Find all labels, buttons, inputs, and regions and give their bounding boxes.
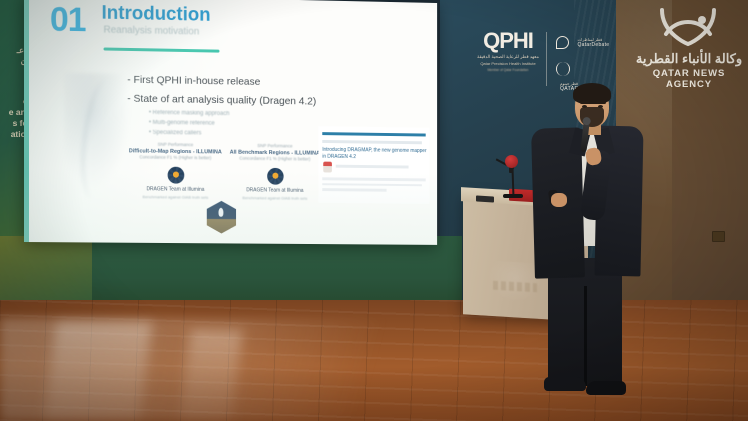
dragen-gear-icon [267,167,283,184]
slide-title: Introduction [102,4,211,25]
logo-divider [546,32,547,86]
article-top-bar [322,132,425,136]
column-1-caption: DRAGEN Team at Illumina [121,186,229,193]
presenter-eyebrow-right [596,101,606,104]
projection-screen: 01 Introduction Reanalysis motivation - … [24,0,437,245]
qna-arabic-name: وكالة الأنباء القطرية [634,51,744,67]
qphi-sub-name: Member of Qatar Foundation [474,68,542,72]
qatardebate-text: قطر لمناظرات QatarDebate [577,37,609,48]
qatardebate-english: QatarDebate [577,42,609,48]
article-body-line [322,183,421,187]
qna-circular-emblem [654,4,724,50]
article-body-placeholder [322,177,425,194]
stage-wall-lower-left [0,236,92,306]
column-2-note: Concordance F1 % (Higher is better) [221,155,328,163]
author-avatar [323,162,332,173]
slide-benchmark-column-2: SNP Performance All Benchmark Regions - … [221,143,328,202]
article-kicker-placeholder [322,140,422,144]
dragen-gear-icon [167,166,184,183]
column-2-caption: DRAGEN Team at Illumina [221,187,328,194]
qna-english-name: QATAR NEWS AGENCY [634,68,744,90]
qphi-wordmark: QPHI [474,30,542,52]
red-capped-desk-mic [505,155,518,168]
slide-section-number: 01 [50,3,86,38]
slide-article-card: Introducing DRAGMAP, the new genome mapp… [318,126,429,204]
presenter-shoe-right [586,381,626,395]
slide-subtitle: Reanalysis motivation [104,25,200,38]
slide-sub-bullet-2: Multi-genome reference [149,120,215,127]
presentation-slide: 01 Introduction Reanalysis motivation - … [24,0,437,245]
presenter-shoe-left [544,377,586,391]
column-1-footnote: Benchmarked against GIAB truth sets [121,193,229,200]
slide-sub-bullet-3: Specialized callers [149,130,201,137]
column-2-footnote: Benchmarked against GIAB truth sets [221,194,328,201]
slide-left-accent-bar [24,0,29,242]
dna-helix-icon [556,62,570,76]
article-body-line [322,188,386,191]
desk-mic-base [503,194,523,198]
slide-sub-bullet-1: Reference masking approach [149,110,229,117]
slide-benchmark-column-1: SNP Performance Difficult-to-Map Regions… [121,141,229,200]
precisionfda-award-badge [207,201,236,234]
slide-title-rule [104,47,220,52]
qphi-english-name: Qatar Precision Health Institute [474,61,542,67]
qatardebate-b-icon [556,36,569,49]
presentation-photo: الإعـ من of e and s for ation QPHI معهد … [0,0,748,421]
column-1-note: Concordance F1 % (Higher is better) [121,154,229,162]
presenter-hand-left [551,193,567,207]
slide-bullet-2: - State of art analysis quality (Dragen … [127,93,316,108]
article-headline: Introducing DRAGMAP, the new genome mapp… [322,147,427,163]
qphi-arabic-name: معهد قطر للرعاية الصحية الدقيقة [474,54,542,61]
device-on-lectern [476,195,494,202]
article-body-line [322,177,425,181]
qphi-logo: QPHI معهد قطر للرعاية الصحية الدقيقة Qat… [474,30,542,72]
qatardebate-logo: قطر لمناظرات QatarDebate [556,34,618,52]
projector-beam-reflection-1 [44,322,152,421]
wall-outlet [712,231,725,242]
presenter-eyebrow-left [580,101,590,104]
presenter-leg-split [584,286,587,386]
slide-bullet-1: - First QPHI in-house release [127,74,260,88]
qna-watermark: وكالة الأنباء القطرية QATAR NEWS AGENCY [634,4,744,90]
article-byline-placeholder [336,165,409,169]
